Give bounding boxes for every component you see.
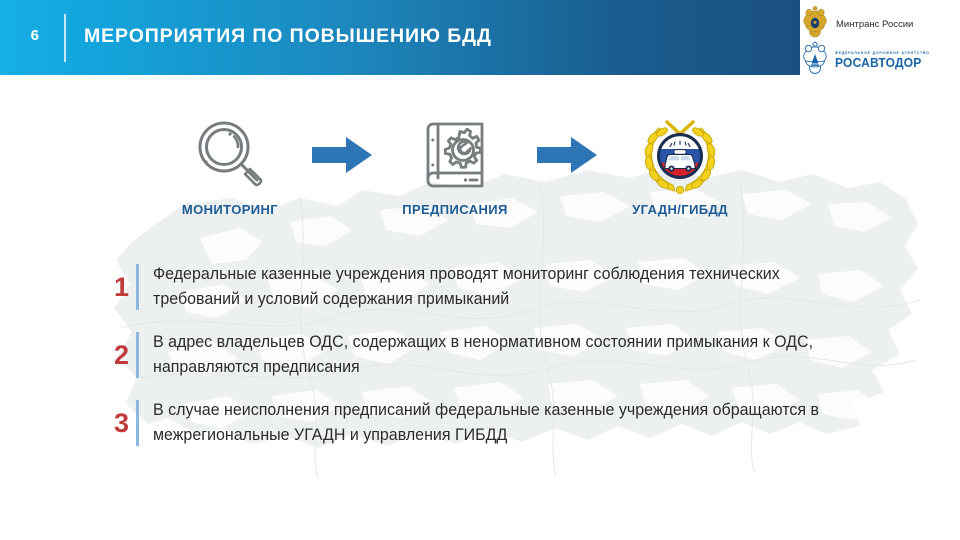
header-divider	[64, 14, 66, 62]
process-step-gibdd: УГАДН/ГИБДД	[610, 112, 750, 217]
process-flow: МОНИТОРИНГ	[160, 112, 780, 232]
process-step-label: УГАДН/ГИБДД	[632, 202, 728, 217]
rosavtodor-eagle-blue-icon	[800, 41, 830, 80]
list-item: 2 В адрес владельцев ОДС, содержащих в н…	[104, 330, 864, 380]
process-step-monitoring: МОНИТОРИНГ	[160, 112, 300, 217]
list-item-rule	[136, 264, 139, 310]
mintrans-logo: Минтранс России	[800, 6, 952, 42]
list-item: 1 Федеральные казенные учреждения провод…	[104, 262, 864, 312]
list-item-text: В адрес владельцев ОДС, содержащих в нен…	[153, 330, 843, 380]
mintrans-logo-label: Минтранс России	[836, 19, 913, 30]
list-item-number: 2	[104, 330, 136, 380]
double-headed-eagle-gold-icon	[800, 6, 830, 43]
measures-list: 1 Федеральные казенные учреждения провод…	[104, 262, 864, 466]
page-title: МЕРОПРИЯТИЯ ПО ПОВЫШЕНИЮ БДД	[84, 25, 492, 48]
list-item-rule	[136, 400, 139, 446]
slide-header-bar: 6 МЕРОПРИЯТИЯ ПО ПОВЫШЕНИЮ БДД	[0, 0, 800, 75]
manual-gear-wrench-icon	[420, 112, 490, 198]
list-item-text: Федеральные казенные учреждения проводят…	[153, 262, 843, 312]
arrow-right-icon	[525, 112, 610, 198]
arrow-right-icon	[300, 112, 385, 198]
process-step-label: ПРЕДПИСАНИЯ	[402, 202, 508, 217]
rosavtodor-tagline: федеральное дорожное агентство	[835, 51, 930, 55]
process-step-prescriptions: ПРЕДПИСАНИЯ	[385, 112, 525, 217]
process-step-label: МОНИТОРИНГ	[182, 202, 278, 217]
gibdd-emblem-icon	[637, 112, 723, 198]
magnifier-icon	[193, 112, 267, 198]
slide-number: 6	[18, 27, 52, 44]
list-item: 3 В случае неисполнения предписаний феде…	[104, 398, 864, 448]
rosavtodor-logo: федеральное дорожное агентство РОСАВТОДО…	[800, 42, 952, 78]
list-item-text: В случае неисполнения предписаний федера…	[153, 398, 843, 448]
rosavtodor-name: РОСАВТОДОР	[835, 56, 926, 70]
logo-group: Минтранс России федеральное дорожн	[800, 6, 952, 84]
rosavtodor-logo-text: федеральное дорожное агентство РОСАВТОДО…	[835, 51, 930, 70]
list-item-number: 3	[104, 398, 136, 448]
list-item-rule	[136, 332, 139, 378]
list-item-number: 1	[104, 262, 136, 312]
